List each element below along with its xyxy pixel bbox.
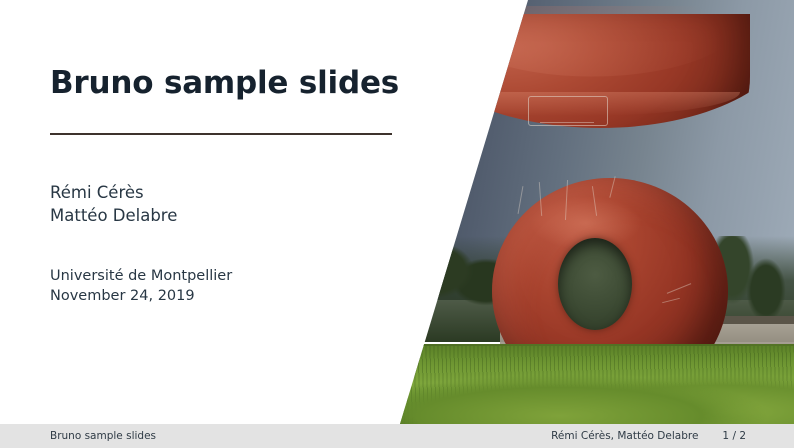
footer-title: Bruno sample slides [50,430,156,442]
author-name: Rémi Cérès [50,181,177,204]
slide-date: November 24, 2019 [50,286,232,306]
footer-page-number: 1 / 2 [722,430,746,442]
footer-right-group: Rémi Cérès, Mattéo Delabre 1 / 2 [551,430,746,442]
author-name: Mattéo Delabre [50,204,177,227]
sculpture-chalk-line [540,122,594,123]
grass-foreground [380,344,794,424]
title-photo [380,0,794,424]
slide-title: Bruno sample slides [50,65,399,101]
slide-footer: Bruno sample slides Rémi Cérès, Mattéo D… [0,424,794,448]
institute-and-date: Université de Montpellier November 24, 2… [50,266,232,306]
footer-authors: Rémi Cérès, Mattéo Delabre [551,430,698,442]
title-rule [50,133,392,135]
author-list: Rémi Cérès Mattéo Delabre [50,181,177,227]
institute: Université de Montpellier [50,266,232,286]
sculpture-torus-hole [558,238,632,330]
slide-canvas: Bruno sample slides Rémi Cérès Mattéo De… [0,0,794,448]
